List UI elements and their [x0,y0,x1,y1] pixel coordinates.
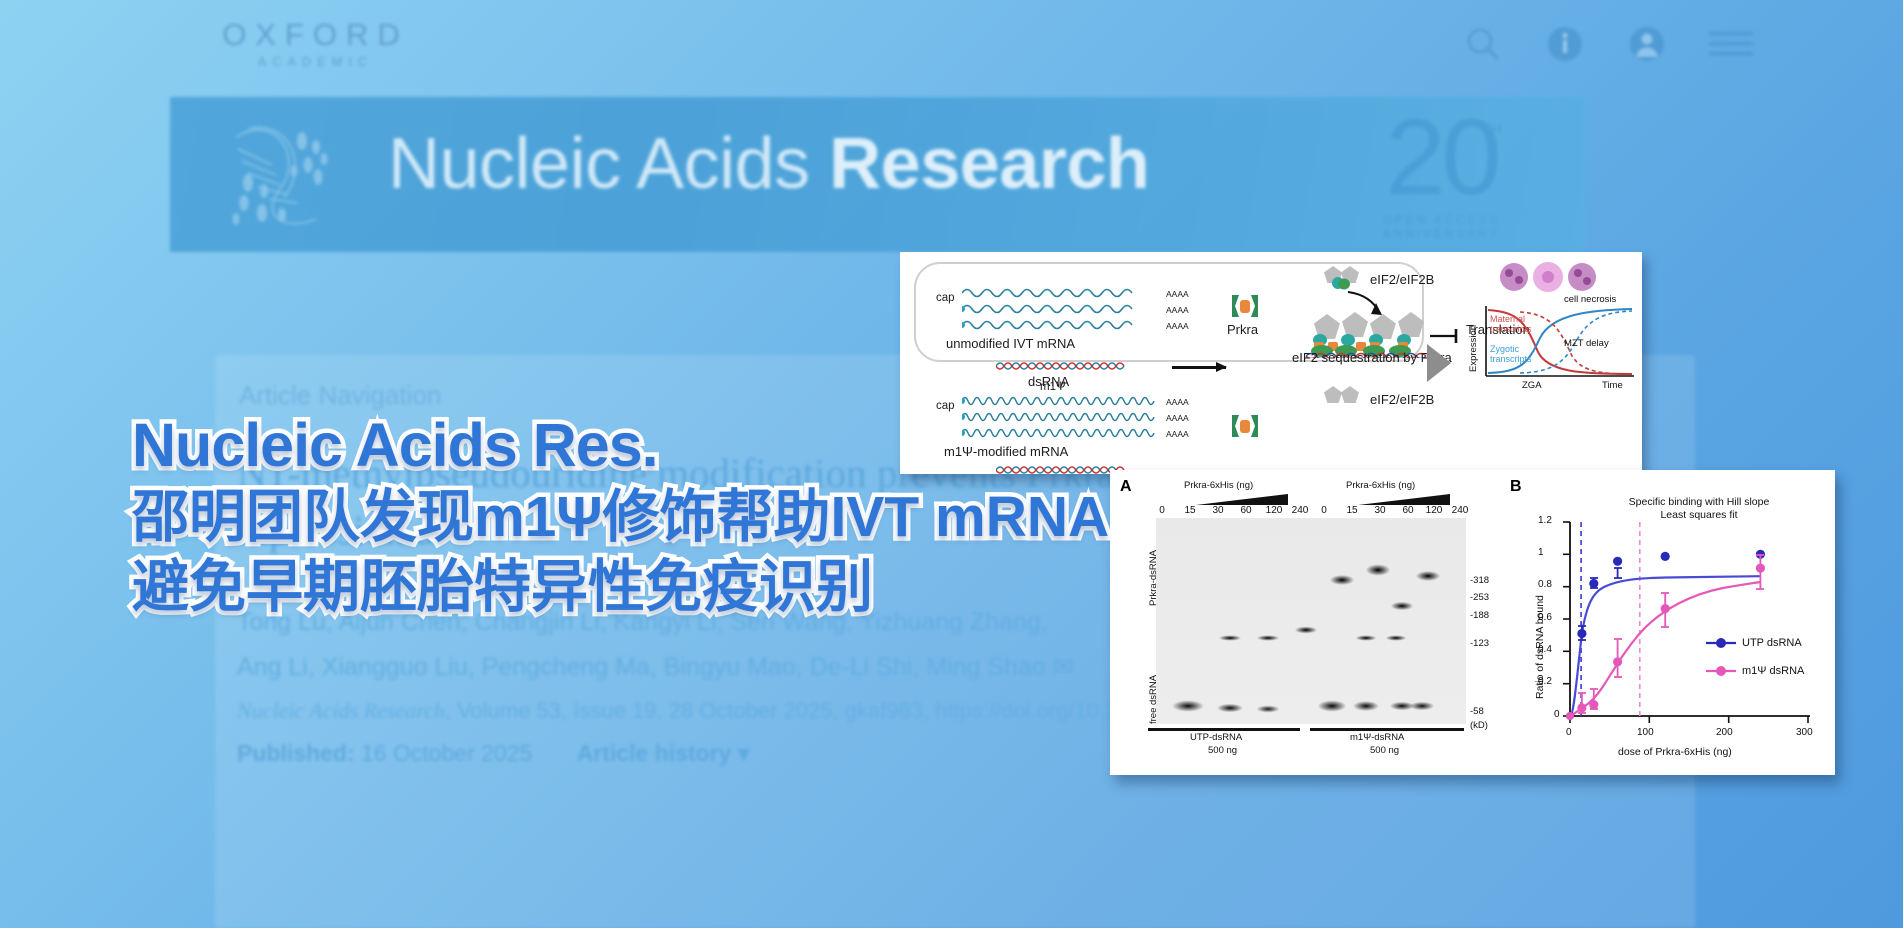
gel-marker-unit: (kD) [1470,720,1488,731]
chevron-down-icon: ▾ [738,740,750,766]
dsrna-duplex-2 [996,464,1126,474]
menu-icon[interactable] [1709,26,1753,62]
lane-dose-a0: 0 [1152,505,1172,516]
anniversary-label: ANNIVERSARY [1334,227,1549,241]
embryo-cells [1500,262,1596,292]
article-navigation-heading[interactable]: Article Navigation [239,380,441,411]
polya-5: AAAA [1166,413,1189,423]
legend-marks [1706,638,1736,676]
lane-dose-b1: 15 [1342,505,1362,516]
gel-marker-318: -318 [1470,575,1489,586]
gel-group-amount-1: 500 ng [1208,745,1237,756]
modified-mrna-strand-1 [962,394,1162,408]
dna-helix-icon [218,119,358,237]
gel-underline-2 [1310,728,1464,731]
lane-dose-b4: 120 [1424,505,1444,516]
authors-line-2-text: Ang Li, Xiangguo Liu, Pengcheng Ma, Bing… [237,653,1046,681]
curved-arrow-1 [1346,290,1386,318]
figure-binding-data[interactable]: A Prkra-6xHis (ng) Prkra-6xHis (ng) 0 15… [1110,470,1835,775]
lane-dose-b0: 0 [1314,505,1334,516]
unmodified-mrna-label: unmodified IVT mRNA [946,336,1075,351]
journal-title: Nucleic Acids Research [388,123,1149,205]
published-date: 16 October 2025 [361,740,532,766]
info-icon[interactable] [1545,24,1585,64]
gel-blot-image [1156,518,1466,724]
search-icon[interactable] [1463,24,1503,64]
lane-dose-b5: 240 [1450,505,1470,516]
modified-mrna-strand-3 [962,426,1162,440]
gel-group-title-2: Prkra-6xHis (ng) [1346,480,1415,491]
polya-1: AAAA [1166,289,1189,299]
polya-3: AAAA [1166,321,1189,331]
svg-text:Expression: Expression [1468,325,1479,372]
logo-academic: ACADEMIC [208,55,423,69]
gel-marker-123: -123 [1470,638,1489,649]
account-icon[interactable] [1627,24,1667,64]
prkra-label-1: Prkra [1227,322,1258,337]
lane-dose-b3: 60 [1398,505,1418,516]
gel-group-label-1: UTP-dsRNA [1190,732,1242,743]
lane-dose-a2: 30 [1208,505,1228,516]
lane-dose-a5: 240 [1290,505,1310,516]
gradient-wedge-2 [1358,494,1450,505]
gel-marker-58: -58 [1470,706,1484,717]
m1psi-label: m1Ψ [1040,381,1066,393]
svg-text:Zygotic: Zygotic [1490,344,1520,354]
panel-a-gel: A Prkra-6xHis (ng) Prkra-6xHis (ng) 0 15… [1118,474,1503,770]
citation-journal: Nucleic Acids Research [237,698,445,723]
svg-text:ZGA: ZGA [1522,380,1542,391]
legend-utp-dsrna: UTP dsRNA [1742,637,1802,649]
ytick-0-8: 0.8 [1538,579,1552,590]
gel-underline-1 [1148,728,1300,731]
lane-dose-a1: 15 [1180,505,1200,516]
journal-banner[interactable]: Nucleic Acids Research 20 TH OPEN ACCESS… [170,97,1585,252]
svg-text:Maternal: Maternal [1490,314,1525,324]
gel-marker-188: -188 [1470,610,1489,621]
svg-text:transcripts: transcripts [1490,324,1532,334]
ytick-1-2: 1.2 [1538,515,1552,526]
journal-title-bold: Research [829,124,1149,204]
xtick-300: 300 [1796,727,1813,738]
oup-header: OXFORD ACADEMIC [0,0,1903,88]
lane-dose-b2: 30 [1370,505,1390,516]
xtick-0: 0 [1566,727,1572,738]
ytick-1-0: 1 [1538,547,1544,558]
figure-graphical-abstract[interactable]: cap AAAA AAAA AAAA unmodified IVT mRNA d… [900,252,1642,474]
xtick-200: 200 [1716,727,1733,738]
gel-row-label-prkra: Prkra-dsRNA [1148,550,1159,606]
envelope-icon[interactable]: ✉ [1053,653,1074,681]
cap-label-1: cap [936,292,955,304]
lane-dose-a3: 60 [1236,505,1256,516]
mrna-strand-3 [962,318,1162,332]
eif2-core [1331,276,1351,290]
prkra-icon-1 [1228,292,1262,320]
modified-mrna-label: m1Ψ-modified mRNA [944,444,1068,459]
polya-2: AAAA [1166,305,1189,315]
dsrna-duplex-1 [996,360,1126,372]
gel-group-title-1: Prkra-6xHis (ng) [1184,480,1253,491]
ytick-0: 0 [1554,709,1560,720]
polya-6: AAAA [1166,429,1189,439]
eif2-subunit-c [1324,386,1342,403]
article-history-label: Article history [577,740,732,766]
svg-text:Time: Time [1602,380,1623,391]
anniversary-number: 20 [1334,103,1549,211]
polya-4: AAAA [1166,397,1189,407]
xtick-100: 100 [1637,727,1654,738]
anniversary-open-access: OPEN ACCESS [1334,213,1549,227]
gradient-wedge-1 [1196,494,1288,505]
svg-text:MZT delay: MZT delay [1564,338,1609,349]
expression-graph: cell necrosis Maternal transcripts Zygot… [1460,260,1638,392]
eif2-subunit-d [1341,386,1359,403]
anniversary-th: TH [1481,121,1503,138]
svg-text:cell necrosis: cell necrosis [1564,294,1617,305]
published-label: Published: [237,740,355,766]
modified-mrna-strand-2 [962,410,1162,424]
anniversary-badge: 20 TH OPEN ACCESS ANNIVERSARY [1334,103,1549,252]
mrna-strand-1 [962,286,1162,300]
article-published: Published: 16 October 2025 Article histo… [237,740,749,767]
prkra-icon-2 [1228,412,1262,440]
reaction-arrow-1 [1172,366,1226,369]
article-history-toggle[interactable]: Article history ▾ [577,740,750,766]
chart-ylabel: Ratio of dsRNA bound [1534,595,1546,699]
flow-arrow-icon [1427,344,1451,382]
cap-label-2: cap [936,400,955,412]
inhibition-bar-1 [1430,328,1464,344]
header-icon-group [1463,24,1753,64]
chart-xlabel: dose of Prkra-6xHis (ng) [1618,746,1732,758]
legend-m1psi-dsrna: m1Ψ dsRNA [1742,665,1804,677]
gel-marker-253: -253 [1470,592,1489,603]
eif2-label-1: eIF2/eIF2B [1370,272,1434,287]
panel-a-label: A [1120,478,1132,496]
panel-b-chart: B Specific binding with Hill slope Least… [1508,474,1830,770]
gel-row-label-free: free dsRNA [1148,675,1159,724]
gel-group-amount-2: 500 ng [1370,745,1399,756]
oxford-academic-logo[interactable]: OXFORD ACADEMIC [208,18,423,69]
eif2-label-2: eIF2/eIF2B [1370,392,1434,407]
binding-curve-svg [1508,474,1830,770]
logo-oxford: OXFORD [208,18,423,52]
mrna-strand-2 [962,302,1162,316]
journal-title-light: Nucleic Acids [388,124,829,204]
svg-text:transcripts: transcripts [1490,354,1532,364]
gel-group-label-2: m1Ψ-dsRNA [1350,732,1404,743]
lane-dose-a4: 120 [1264,505,1284,516]
